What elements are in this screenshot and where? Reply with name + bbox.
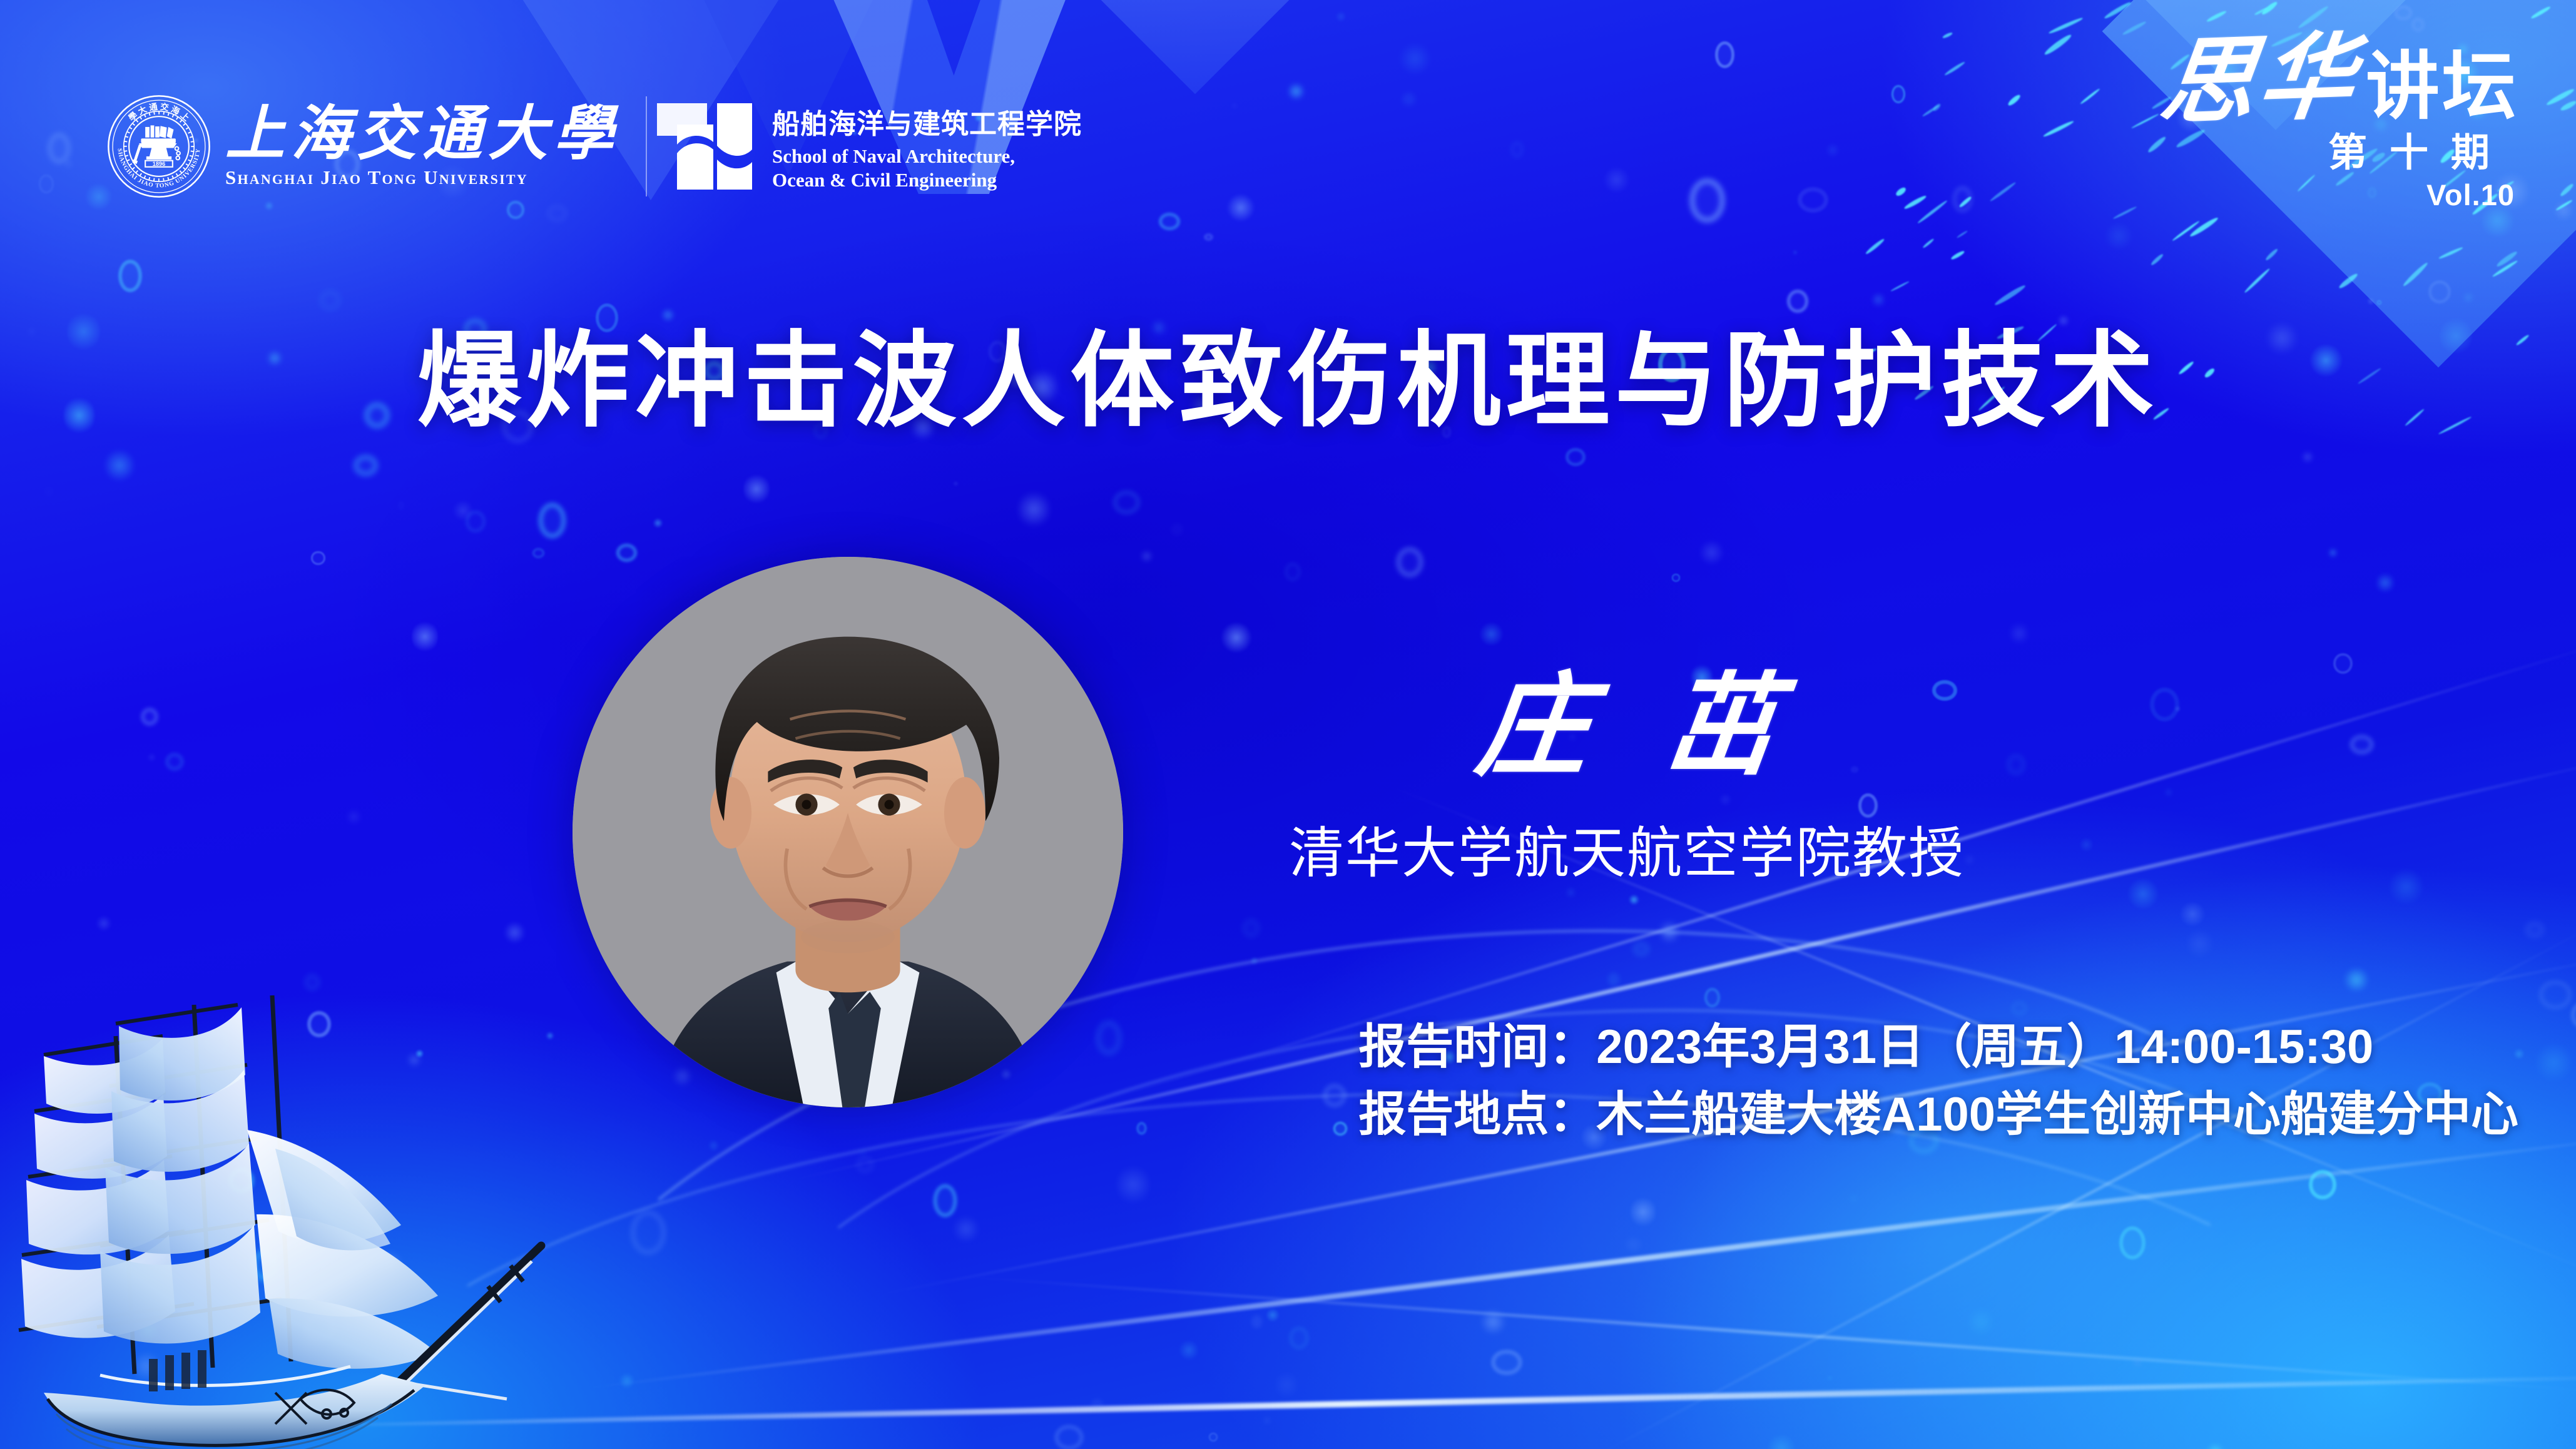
bokeh-dot bbox=[1872, 292, 1885, 308]
school-logo: 船舶海洋与建筑工程学院 School of Naval Architecture… bbox=[673, 99, 1082, 193]
forum-name-plain: 讲坛 bbox=[2366, 50, 2518, 124]
forum-badge: 思华 讲坛 第十期 Vol.10 bbox=[2162, 38, 2518, 210]
bokeh-dot bbox=[1511, 141, 1523, 157]
bokeh-dot bbox=[1275, 1370, 1298, 1400]
svg-text:1896: 1896 bbox=[153, 161, 166, 167]
bokeh-dot bbox=[1567, 889, 1574, 896]
bokeh-dot bbox=[320, 290, 340, 311]
bokeh-dot bbox=[1092, 1400, 1102, 1410]
bokeh-dot bbox=[1793, 250, 1798, 255]
bokeh-dot bbox=[1603, 166, 1630, 194]
forum-volume: Vol.10 bbox=[2162, 180, 2518, 210]
school-name-en: School of Naval Architecture, Ocean & Ci… bbox=[772, 145, 1082, 192]
bokeh-dot bbox=[354, 455, 377, 475]
bokeh-dot bbox=[1113, 491, 1140, 514]
bokeh-dot bbox=[2538, 980, 2572, 1010]
bokeh-dot bbox=[2178, 902, 2207, 926]
bokeh-dot bbox=[1285, 563, 1300, 581]
bokeh-dot bbox=[619, 1373, 634, 1389]
bokeh-dot bbox=[347, 809, 361, 825]
bokeh-dot bbox=[1398, 43, 1432, 75]
forum-name: 思华 讲坛 bbox=[2162, 38, 2518, 124]
bokeh-dot bbox=[2010, 621, 2029, 646]
bokeh-dot bbox=[1404, 94, 1413, 103]
bokeh-dot bbox=[504, 920, 525, 945]
bokeh-dot bbox=[118, 260, 142, 293]
university-name-cn: 上海交通大學 bbox=[225, 104, 619, 164]
bokeh-dot bbox=[2389, 867, 2423, 907]
bokeh-dot bbox=[1253, 1316, 1261, 1328]
bokeh-dot bbox=[1204, 234, 1213, 241]
bokeh-dot bbox=[860, 1150, 865, 1156]
speaker-name: 庄茁 bbox=[1395, 663, 1858, 791]
speaker-block: 庄茁 清华大学航天航空学院教授 bbox=[1158, 663, 2096, 886]
bokeh-dot bbox=[2166, 789, 2172, 796]
sjtu-seal-icon: 1896 學 大 通 交 海 上 bbox=[106, 94, 211, 199]
bokeh-dot bbox=[39, 175, 53, 193]
event-place: 报告地点：木兰船建大楼A100学生创新中心船建分中心 bbox=[1358, 1081, 2518, 1149]
bokeh-dot bbox=[1265, 1308, 1280, 1321]
bokeh-dot bbox=[1715, 41, 1734, 68]
bokeh-dot bbox=[1969, 1306, 1993, 1338]
bokeh-dot bbox=[2526, 922, 2544, 937]
bokeh-dot bbox=[1137, 1122, 1146, 1134]
bokeh-dot bbox=[264, 201, 273, 210]
university-name-en: Shanghai Jiao Tong University bbox=[225, 166, 619, 189]
university-name-block: 上海交通大學 Shanghai Jiao Tong University bbox=[225, 104, 619, 189]
speaker-affiliation: 清华大学航天航空学院教授 bbox=[1158, 820, 2096, 887]
bokeh-dot bbox=[399, 502, 404, 509]
bokeh-dot bbox=[547, 205, 567, 221]
bokeh-dot bbox=[1219, 623, 1253, 652]
page-title: 爆炸冲击波人体致伤机理与防护技术 bbox=[0, 325, 2576, 437]
bokeh-dot bbox=[1672, 574, 1680, 581]
bokeh-dot bbox=[2376, 571, 2394, 594]
bokeh-dot bbox=[1335, 11, 1347, 23]
speaker-portrait bbox=[573, 557, 1123, 1107]
bokeh-dot bbox=[452, 501, 474, 521]
bokeh-dot bbox=[1172, 525, 1182, 534]
bokeh-dot bbox=[1096, 1021, 1121, 1055]
bokeh-dot bbox=[412, 619, 438, 653]
bokeh-dot bbox=[2127, 877, 2159, 911]
bokeh-dot bbox=[1787, 290, 1808, 313]
bokeh-dot bbox=[1018, 489, 1050, 529]
bokeh-dot bbox=[2428, 280, 2451, 303]
school-name-block: 船舶海洋与建筑工程学院 School of Naval Architecture… bbox=[772, 101, 1082, 192]
school-name-cn: 船舶海洋与建筑工程学院 bbox=[772, 101, 1082, 141]
bokeh-dot bbox=[2309, 1170, 2336, 1199]
bokeh-dot bbox=[96, 915, 112, 932]
bokeh-dot bbox=[2366, 297, 2375, 305]
bokeh-dot bbox=[1179, 1339, 1198, 1361]
event-details: 报告时间：2023年3月31日（周五）14:00-15:30 报告地点：木兰船建… bbox=[1358, 1014, 2518, 1149]
forum-name-calligraphy: 思华 bbox=[2156, 34, 2363, 128]
event-time: 报告时间：2023年3月31日（周五）14:00-15:30 bbox=[1358, 1014, 2518, 1081]
bokeh-dot bbox=[1634, 943, 1649, 955]
bokeh-dot bbox=[1000, 1067, 1012, 1081]
university-logo: 1896 學 大 通 交 海 上 bbox=[106, 94, 619, 199]
bokeh-dot bbox=[711, 1142, 716, 1149]
bokeh-dot bbox=[1250, 956, 1258, 965]
bokeh-dot bbox=[2536, 1040, 2572, 1084]
logo-row: 1896 學 大 通 交 海 上 bbox=[106, 94, 1082, 199]
bokeh-dot bbox=[630, 1210, 666, 1255]
bokeh-dot bbox=[1565, 448, 1585, 466]
bokeh-dot bbox=[934, 1184, 957, 1216]
bokeh-dot bbox=[2342, 968, 2371, 992]
school-name-en-line2: Ocean & Civil Engineering bbox=[772, 168, 1082, 192]
logo-divider bbox=[646, 96, 647, 196]
bokeh-dot bbox=[1054, 1425, 1084, 1449]
bokeh-dot bbox=[1243, 920, 1259, 936]
bokeh-dot bbox=[2333, 653, 2353, 674]
bokeh-dot bbox=[1141, 550, 1153, 563]
bokeh-dot bbox=[952, 1215, 980, 1243]
bokeh-dot bbox=[1689, 178, 1725, 223]
bokeh-dot bbox=[2186, 927, 2213, 960]
bokeh-dot bbox=[1491, 1350, 1522, 1376]
bokeh-dot bbox=[1704, 988, 1720, 1007]
bokeh-dot bbox=[1226, 194, 1256, 221]
forum-issue-number: 第十期 bbox=[2162, 134, 2518, 173]
naoce-mark-icon bbox=[673, 99, 756, 193]
bokeh-dot bbox=[1263, 1417, 1271, 1423]
bokeh-dot bbox=[2102, 223, 2135, 249]
bokeh-dot bbox=[539, 503, 566, 538]
bokeh-dot bbox=[1850, 1194, 1858, 1203]
lecture-poster: 1896 學 大 通 交 海 上 bbox=[0, 0, 2576, 1449]
bokeh-dot bbox=[2395, 6, 2412, 21]
bokeh-dot bbox=[1117, 1162, 1149, 1207]
bokeh-dot bbox=[1698, 540, 1724, 565]
bokeh-dot bbox=[311, 551, 325, 564]
bokeh-dot bbox=[660, 308, 676, 322]
sailing-ship-illustration bbox=[6, 961, 569, 1449]
bokeh-dot bbox=[1478, 623, 1504, 646]
school-name-en-line1: School of Naval Architecture, bbox=[772, 145, 1082, 168]
bokeh-dot bbox=[671, 1067, 693, 1086]
bokeh-dot bbox=[507, 201, 524, 219]
bokeh-dot bbox=[857, 1157, 873, 1172]
bokeh-dot bbox=[1290, 1327, 1308, 1348]
bokeh-dot bbox=[104, 447, 134, 484]
bokeh-dot bbox=[2412, 18, 2424, 31]
bokeh-dot bbox=[1397, 547, 1423, 577]
bokeh-dot bbox=[653, 518, 663, 528]
